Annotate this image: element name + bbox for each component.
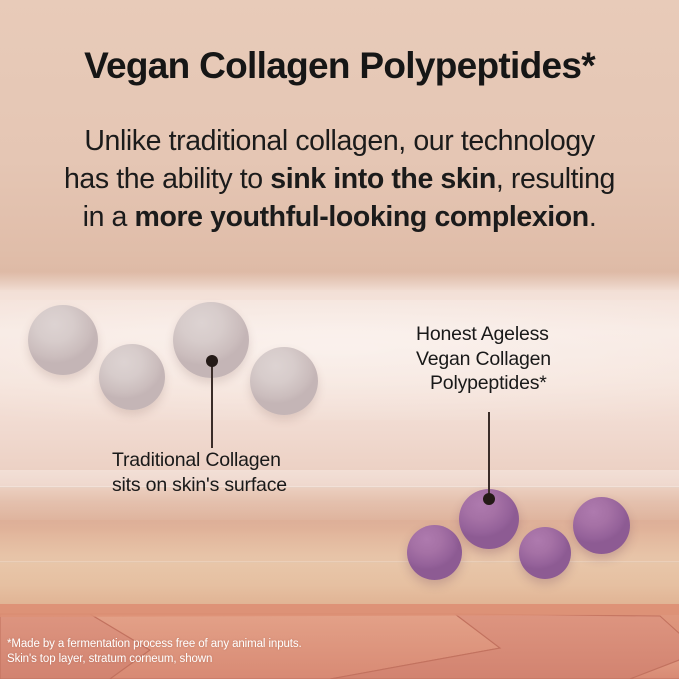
subtitle-line-3-part-1: in a xyxy=(83,201,135,233)
vegan-collagen-leader-line xyxy=(488,412,490,500)
vegan-collagen-annotation-line-3: Polypeptides* xyxy=(416,371,551,396)
infographic-canvas: Vegan Collagen Polypeptides* Unlike trad… xyxy=(0,0,679,679)
traditional-collagen-annotation-line-1: Traditional Collagen xyxy=(112,448,287,473)
traditional-collagen-particle xyxy=(250,347,318,415)
traditional-collagen-leader-dot xyxy=(206,355,218,367)
traditional-collagen-annotation: Traditional Collagen sits on skin's surf… xyxy=(112,448,287,497)
skin-surface-sheen xyxy=(0,300,679,420)
skin-layer-edge-lower xyxy=(0,561,679,563)
traditional-collagen-particle xyxy=(99,344,165,410)
traditional-collagen-annotation-line-2: sits on skin's surface xyxy=(112,473,287,498)
vegan-collagen-particle xyxy=(519,527,571,579)
subtitle-line-2-emphasis: sink into the skin xyxy=(270,163,496,195)
vegan-collagen-annotation: Honest Ageless Vegan Collagen Polypeptid… xyxy=(416,322,551,396)
vegan-collagen-particle xyxy=(573,497,630,554)
footnote-line-2: Skin's top layer, stratum corneum, shown xyxy=(7,652,302,667)
vegan-collagen-leader-dot xyxy=(483,493,495,505)
subtitle-line-2: has the ability to sink into the skin, r… xyxy=(0,160,679,198)
subtitle-line-3-emphasis: more youthful-looking complexion xyxy=(135,201,589,233)
subtitle-line-1: Unlike traditional collagen, our technol… xyxy=(0,122,679,160)
subtitle-line-3: in a more youthful-looking complexion. xyxy=(0,198,679,236)
subtitle-line-2-part-3: , resulting xyxy=(496,163,615,195)
footnote-line-1: *Made by a fermentation process free of … xyxy=(7,637,302,652)
page-subtitle: Unlike traditional collagen, our technol… xyxy=(0,122,679,236)
traditional-collagen-leader-line xyxy=(211,362,213,448)
subtitle-line-1-text: Unlike traditional collagen, our technol… xyxy=(84,125,594,157)
subtitle-line-3-part-3: . xyxy=(589,201,597,233)
subtitle-line-2-part-1: has the ability to xyxy=(64,163,270,195)
traditional-collagen-particle xyxy=(28,305,98,375)
vegan-collagen-annotation-line-1: Honest Ageless xyxy=(416,322,551,347)
page-title: Vegan Collagen Polypeptides* xyxy=(0,44,679,88)
footnote: *Made by a fermentation process free of … xyxy=(7,637,302,666)
vegan-collagen-annotation-line-2: Vegan Collagen xyxy=(416,347,551,372)
vegan-collagen-particle xyxy=(407,525,462,580)
